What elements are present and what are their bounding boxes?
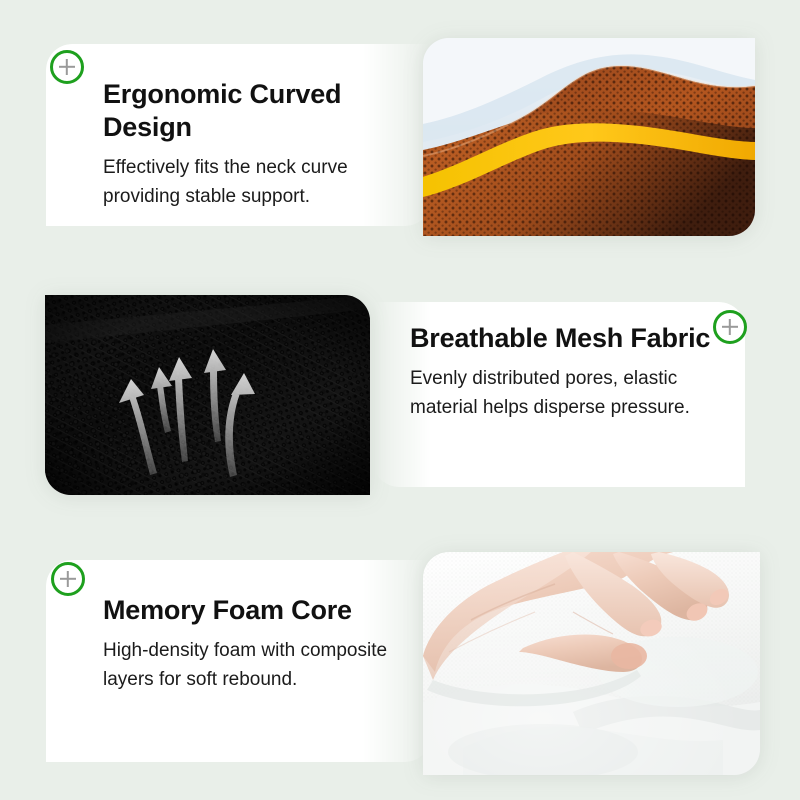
feature-card-1-text: Ergonomic Curved Design Effectively fits… [103, 78, 403, 211]
feature-description-2: Evenly distributed pores, elastic materi… [410, 364, 730, 422]
feature-card-2-text: Breathable Mesh Fabric Evenly distribute… [410, 322, 730, 422]
plus-icon-badge-1[interactable] [50, 50, 84, 84]
feature-infographic: Ergonomic Curved Design Effectively fits… [0, 0, 800, 800]
ergonomic-curved-pillow-photo [423, 38, 755, 236]
feature-title-2: Breathable Mesh Fabric [410, 322, 730, 355]
plus-icon-badge-2[interactable] [713, 310, 747, 344]
feature-title-3: Memory Foam Core [103, 594, 408, 627]
breathable-mesh-airflow-photo [45, 295, 370, 495]
feature-description-1: Effectively fits the neck curve providin… [103, 153, 403, 211]
feature-title-1: Ergonomic Curved Design [103, 78, 403, 144]
feature-description-3: High-density foam with composite layers … [103, 636, 408, 694]
memory-foam-hand-press-photo [423, 552, 760, 775]
feature-card-3-text: Memory Foam Core High-density foam with … [103, 594, 408, 694]
plus-icon-badge-3[interactable] [51, 562, 85, 596]
